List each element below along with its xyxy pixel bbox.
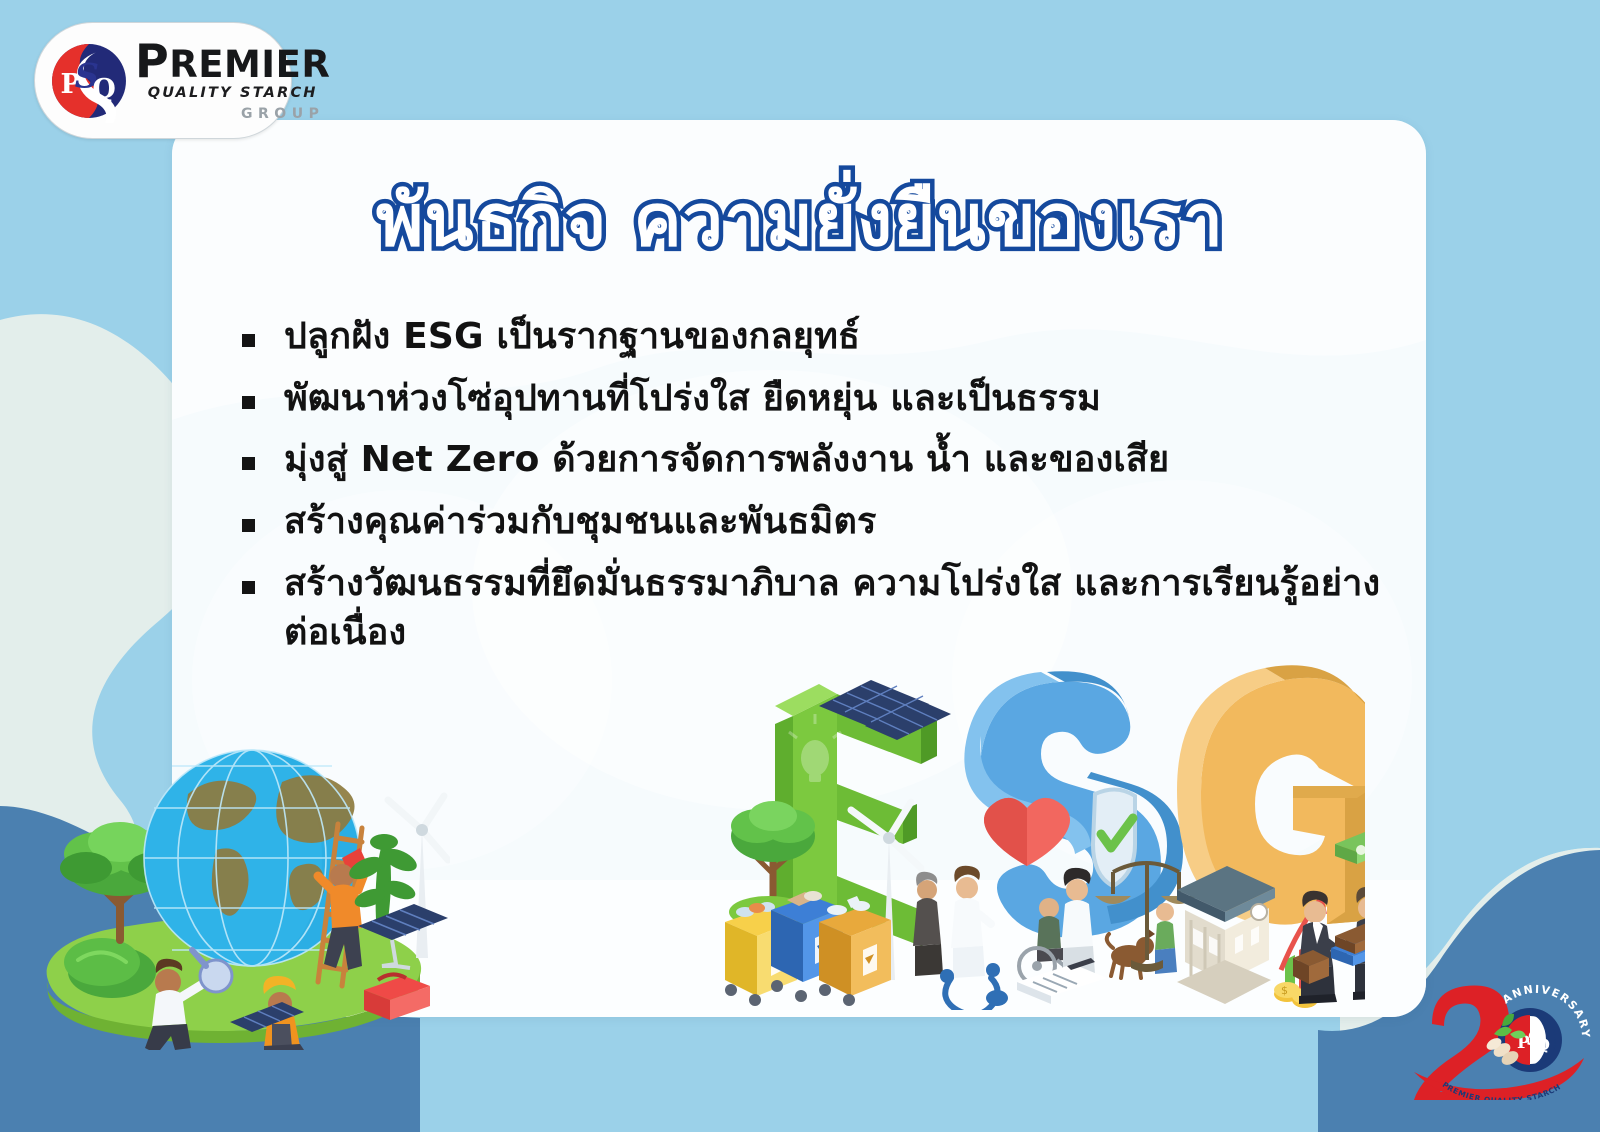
list-item-label: ปลูกฝัง ESG เป็นรากฐานของกลยุทธ์ [284, 312, 860, 362]
isometric-sustainability-globe-illustration [20, 690, 450, 1050]
person-doctor [951, 866, 991, 978]
logo-tagline: QUALITY STARCH [135, 85, 330, 101]
20th-anniversary-badge: P S Q ANNIVERSARY PREMIER QUALITY STARCH… [1406, 968, 1594, 1100]
list-item: สร้างวัฒนธรรมที่ยึดมั่นธรรมาภิบาล ความโป… [242, 559, 1402, 658]
page-title: พันธกิจ ความยั่งยืนของเรา [0, 183, 1600, 259]
list-item-label: สร้างวัฒนธรรมที่ยึดมั่นธรรมาภิบาล ความโป… [284, 559, 1402, 658]
square-bullet-icon [242, 519, 255, 532]
square-bullet-icon [242, 581, 255, 594]
list-item: พัฒนาห่วงโซ่อุปทานที่โปร่งใส ยืดหยุ่น แล… [242, 374, 1402, 424]
square-bullet-icon [242, 457, 255, 470]
list-item-label: มุ่งสู่ Net Zero ด้วยการจัดการพลังงาน น้… [284, 435, 1169, 485]
premier-quality-starch-group-logo: P S Q PREMIER QUALITY STARCH GROUP [34, 22, 292, 139]
list-item: มุ่งสู่ Net Zero ด้วยการจัดการพลังงาน น้… [242, 435, 1402, 485]
psq-circle-icon: P S Q [47, 39, 131, 123]
svg-text:Q: Q [1536, 1035, 1550, 1054]
svg-text:$: $ [1281, 984, 1288, 997]
logo-brand-name: PREMIER [135, 39, 330, 83]
slide-root: พันธกิจ ความยั่งยืนของเรา ปลูกฝัง ESG เป… [0, 0, 1600, 1132]
list-item: สร้างคุณค่าร่วมกับชุมชนและพันธมิตร [242, 497, 1402, 547]
square-bullet-icon [242, 334, 255, 347]
esg-letter-g: $ [1177, 665, 1365, 1008]
person-elder [913, 872, 943, 976]
isometric-esg-letters-illustration: $ [715, 660, 1365, 1010]
list-item-label: พัฒนาห่วงโซ่อุปทานที่โปร่งใส ยืดหยุ่น แล… [284, 374, 1101, 424]
logo-brand-rest: REMIER [169, 43, 330, 86]
svg-text:Q: Q [92, 73, 115, 104]
list-item: ปลูกฝัง ESG เป็นรากฐานของกลยุทธ์ [242, 312, 1402, 362]
square-bullet-icon [242, 396, 255, 409]
logo-suffix: GROUP [135, 106, 330, 122]
mission-bullet-list: ปลูกฝัง ESG เป็นรากฐานของกลยุทธ์ พัฒนาห่… [242, 312, 1402, 670]
logo-wordmark: PREMIER QUALITY STARCH GROUP [135, 39, 330, 122]
logo-brand-cap: P [135, 34, 169, 88]
esg-letter-s [913, 671, 1197, 1010]
list-item-label: สร้างคุณค่าร่วมกับชุมชนและพันธมิตร [284, 497, 877, 547]
